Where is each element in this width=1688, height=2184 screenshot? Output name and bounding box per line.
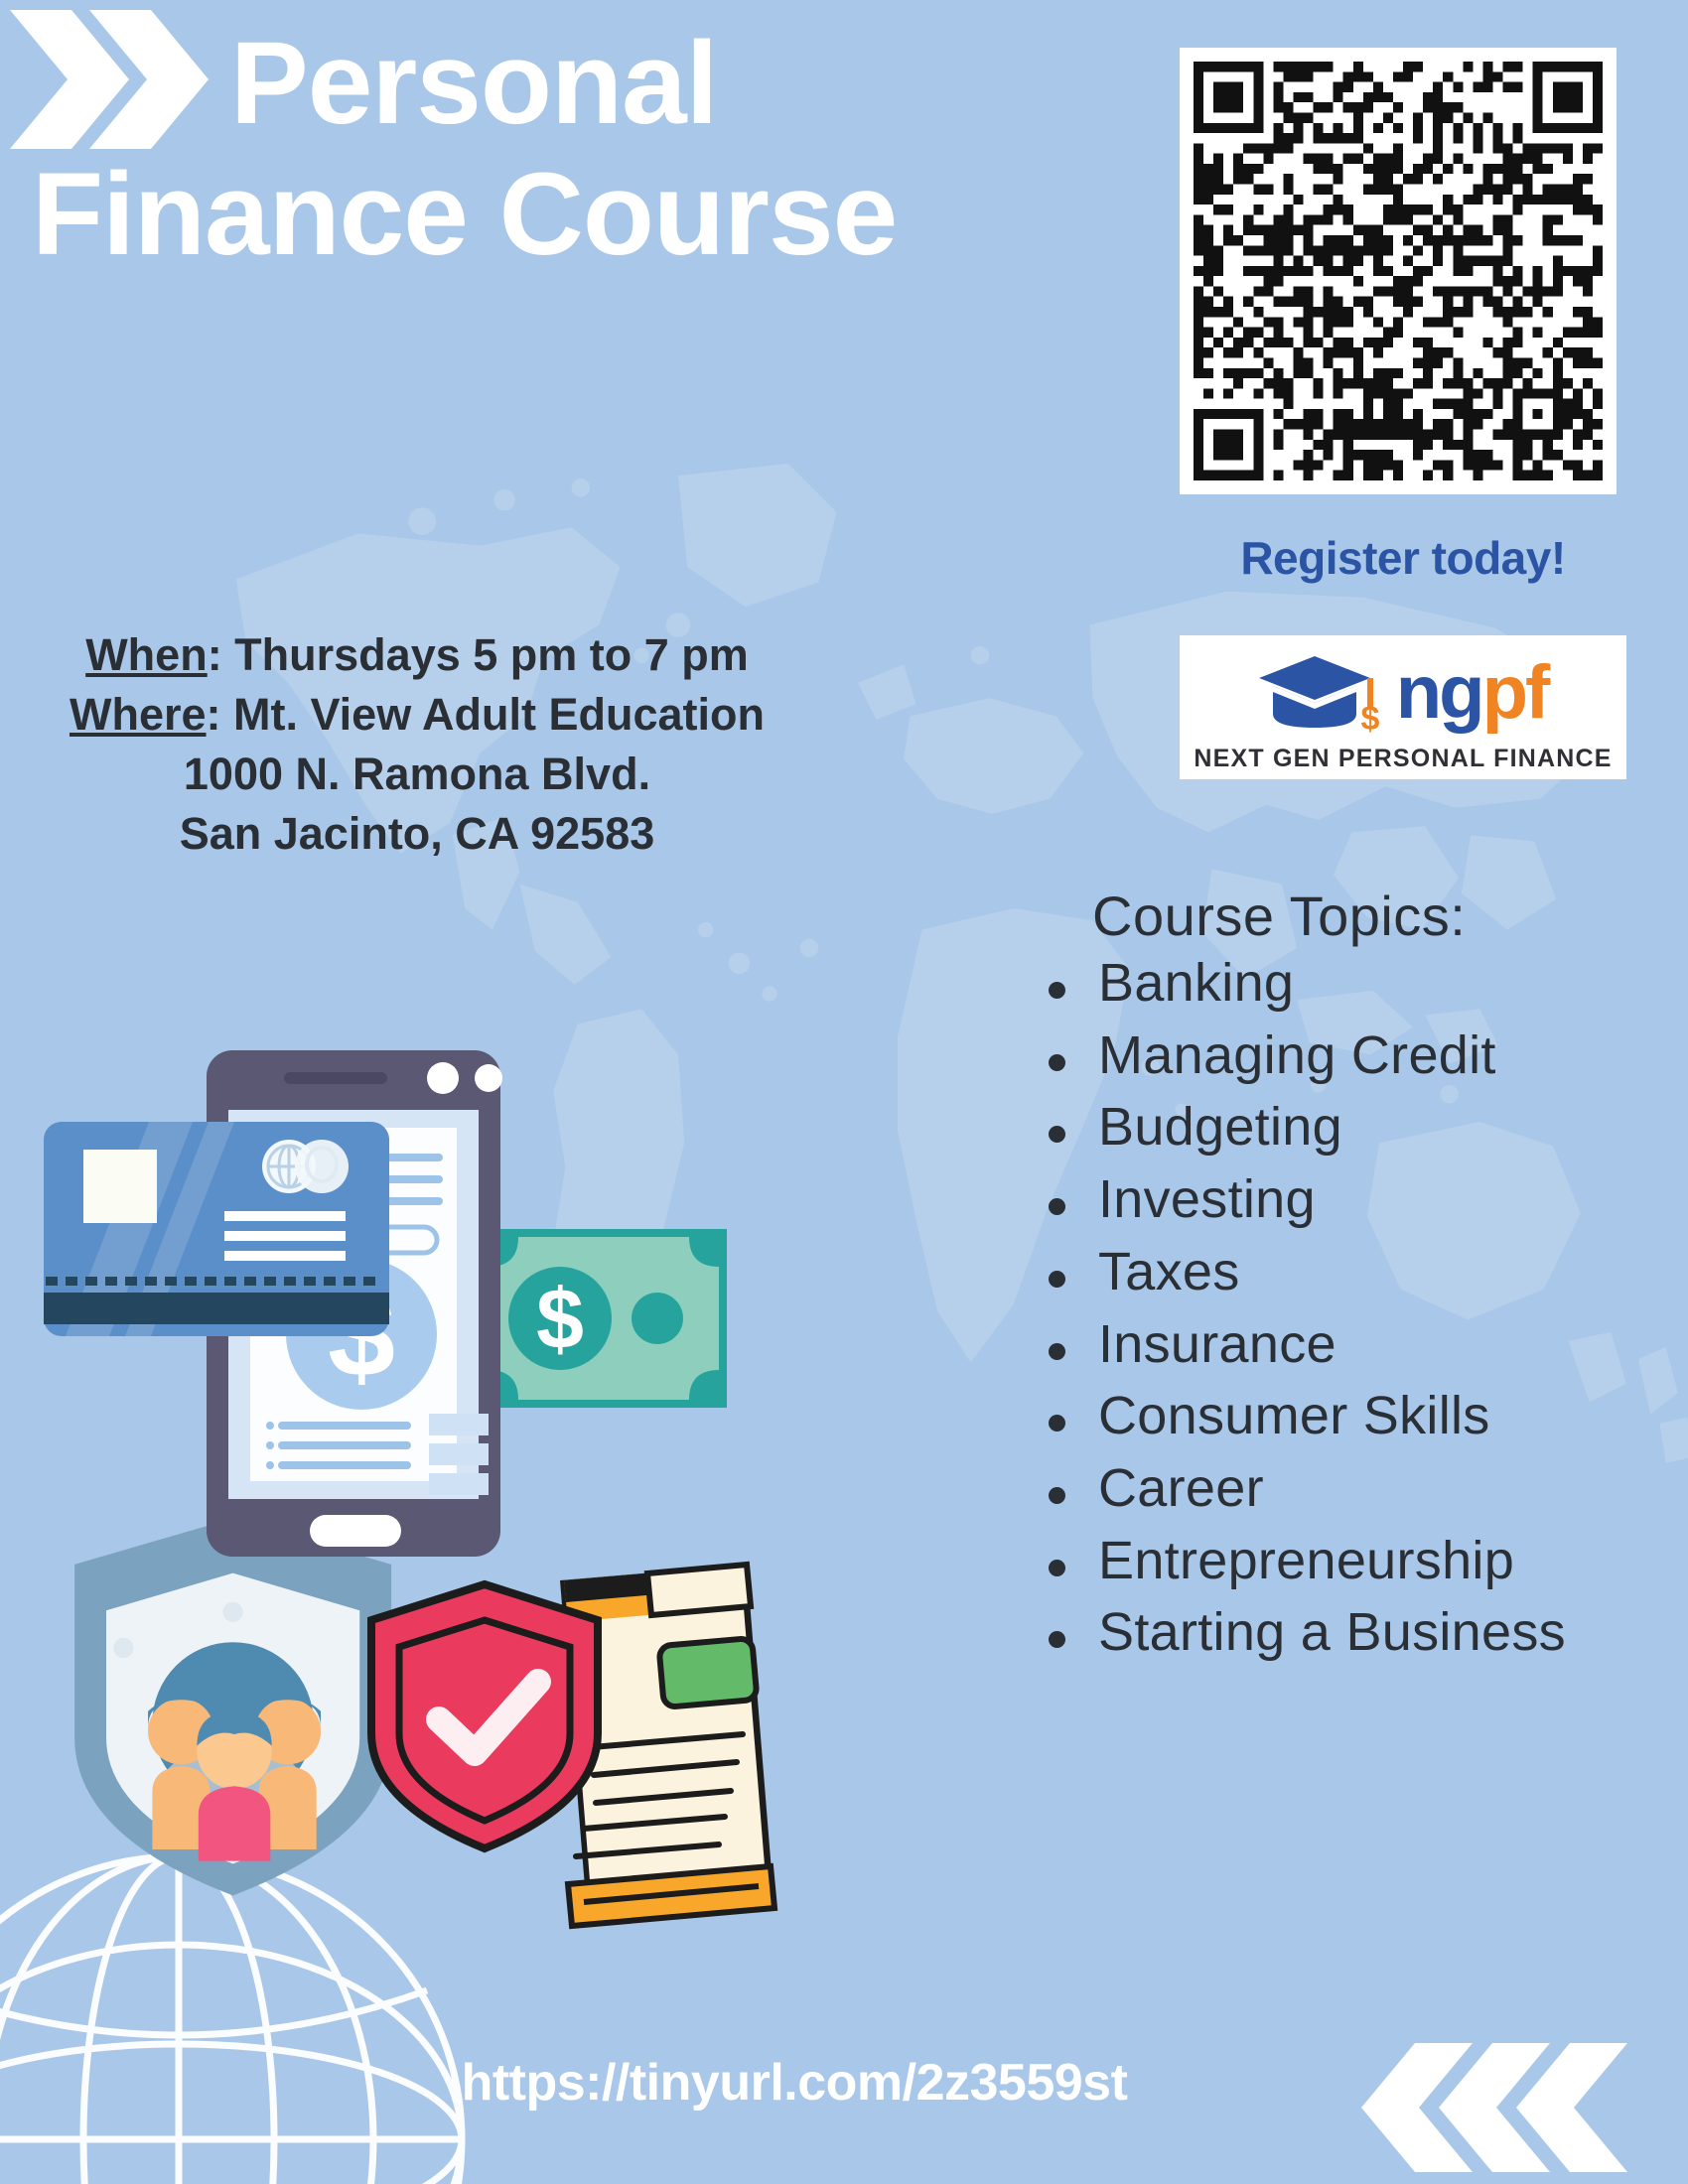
course-topic-item: Entrepreneurship [1023,1530,1658,1593]
course-topic-label: Banking [1098,953,1294,1013]
when-label: When [85,629,207,680]
course-topic-label: Insurance [1098,1314,1336,1374]
course-topic-label: Managing Credit [1098,1025,1496,1085]
bullet-icon [1049,1631,1065,1648]
title-line-2: Finance Course [32,149,1104,280]
where-value: : Mt. View Adult Education [207,689,766,740]
course-topic-item: Banking [1023,952,1658,1016]
bullet-icon [1049,1343,1065,1360]
detail-when: When: Thursdays 5 pm to 7 pm [60,625,774,685]
flyer-page: Personal Finance Course Register today! … [0,0,1688,2184]
course-topic-label: Taxes [1098,1242,1240,1301]
registration-url[interactable]: https://tinyurl.com/2z3559st [298,2053,1291,2113]
ngpf-word-pf: pf [1482,650,1548,735]
course-topic-item: Taxes [1023,1241,1658,1304]
course-topic-item: Managing Credit [1023,1024,1658,1088]
course-topics-list: BankingManaging CreditBudgetingInvesting… [1023,952,1658,1665]
bullet-icon [1049,1054,1065,1071]
course-topic-item: Starting a Business [1023,1601,1658,1665]
course-topic-label: Entrepreneurship [1098,1531,1514,1590]
bullet-icon [1049,1487,1065,1504]
course-topic-item: Investing [1023,1168,1658,1232]
dollar-bill-icon: $ [481,1229,727,1408]
course-topics-heading: Course Topics: [1092,884,1658,948]
qr-code-canvas[interactable] [1194,62,1603,480]
event-details: When: Thursdays 5 pm to 7 pm Where: Mt. … [60,625,774,863]
chevron-left-decoration [1316,2043,1643,2172]
course-topic-label: Consumer Skills [1098,1386,1490,1445]
credit-card-icon [44,1122,389,1336]
course-topic-item: Career [1023,1457,1658,1521]
course-topic-label: Investing [1098,1169,1316,1229]
course-topic-label: Career [1098,1458,1264,1518]
course-topic-label: Starting a Business [1098,1602,1566,1662]
security-shield-check-icon [371,1584,598,1848]
ngpf-word-ng: ng [1396,650,1482,735]
course-topic-label: Budgeting [1098,1097,1342,1157]
svg-text:$: $ [536,1272,584,1367]
course-topic-item: Budgeting [1023,1096,1658,1160]
svg-text:$: $ [1360,700,1379,734]
ngpf-logo-main: $ ngpf [1180,635,1626,745]
bullet-icon [1049,982,1065,999]
where-label: Where [70,689,207,740]
when-value: : Thursdays 5 pm to 7 pm [208,629,749,680]
chevron-right-decoration [10,10,218,149]
bullet-icon [1049,1415,1065,1432]
bullet-icon [1049,1271,1065,1288]
detail-address-1: 1000 N. Ramona Blvd. [60,745,774,804]
register-cta: Register today! [1180,531,1626,585]
detail-where: Where: Mt. View Adult Education [60,685,774,745]
title-line-1: Personal [230,18,1104,149]
bullet-icon [1049,1126,1065,1143]
ngpf-logo: $ ngpf NEXT GEN PERSONAL FINANCE [1180,635,1626,779]
detail-address-2: San Jacinto, CA 92583 [60,804,774,864]
ngpf-wordmark: ngpf [1396,660,1548,725]
course-topic-item: Consumer Skills [1023,1385,1658,1448]
ngpf-tagline: NEXT GEN PERSONAL FINANCE [1180,745,1626,779]
course-topic-item: Insurance [1023,1313,1658,1377]
graduation-cap-icon: $ [1259,652,1390,734]
qr-code[interactable] [1180,48,1617,494]
personal-finance-illustration: $ $ [40,1032,963,1946]
bullet-icon [1049,1560,1065,1576]
page-title: Personal Finance Course [230,18,1104,280]
course-topics: Course Topics: BankingManaging CreditBud… [1023,884,1658,1674]
bullet-icon [1049,1198,1065,1215]
